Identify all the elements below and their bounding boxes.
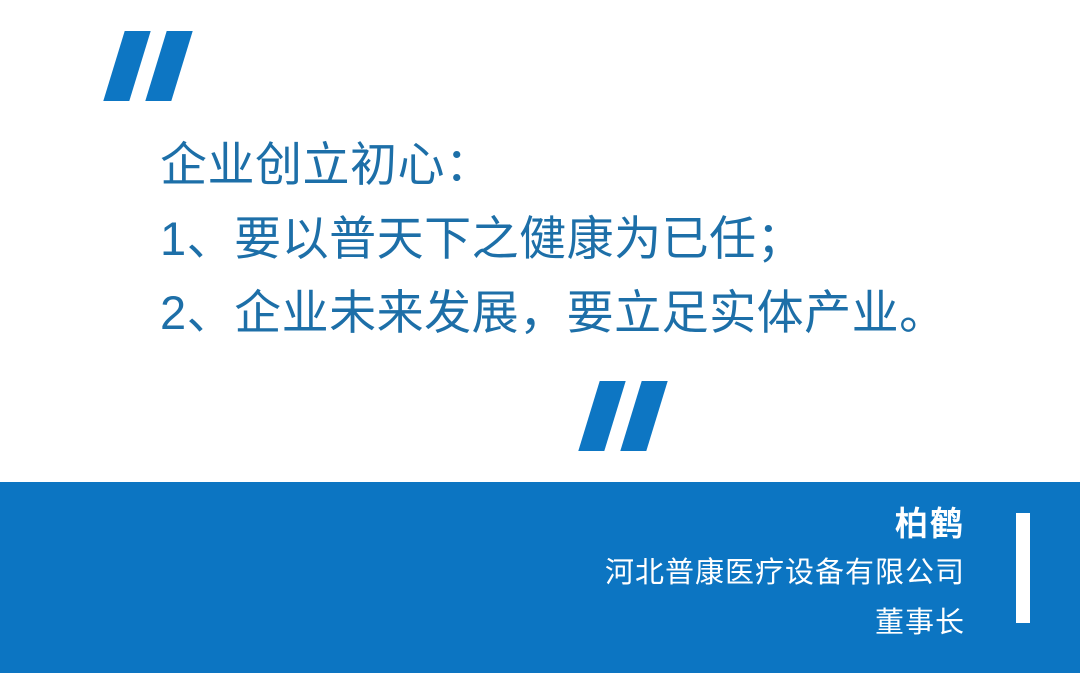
quote-close-bar-right: [620, 381, 667, 451]
attribution-company: 河北普康医疗设备有限公司: [165, 548, 965, 598]
quote-open-bar-right: [145, 31, 192, 101]
quote-slide: 企业创立初心： 1、要以普天下之健康为已任； 2、企业未来发展，要立足实体产业。…: [0, 0, 1080, 673]
accent-bar: [1016, 513, 1030, 623]
attribution-band: 柏鹤 河北普康医疗设备有限公司 董事长: [0, 482, 1080, 673]
quote-line-1: 企业创立初心：: [160, 128, 1040, 202]
quote-close-bar-left: [578, 381, 625, 451]
attribution-text-block: 柏鹤 河北普康医疗设备有限公司 董事长: [165, 500, 965, 648]
quote-open-bar-left: [103, 31, 150, 101]
attribution-role: 董事长: [165, 598, 965, 648]
quote-text-block: 企业创立初心： 1、要以普天下之健康为已任； 2、企业未来发展，要立足实体产业。: [160, 128, 1040, 350]
quote-line-3: 2、企业未来发展，要立足实体产业。: [160, 276, 1040, 350]
quote-line-2: 1、要以普天下之健康为已任；: [160, 202, 1040, 276]
attribution-name: 柏鹤: [165, 500, 965, 548]
quote-open-icon: [108, 31, 196, 101]
quote-close-icon: [583, 381, 671, 451]
